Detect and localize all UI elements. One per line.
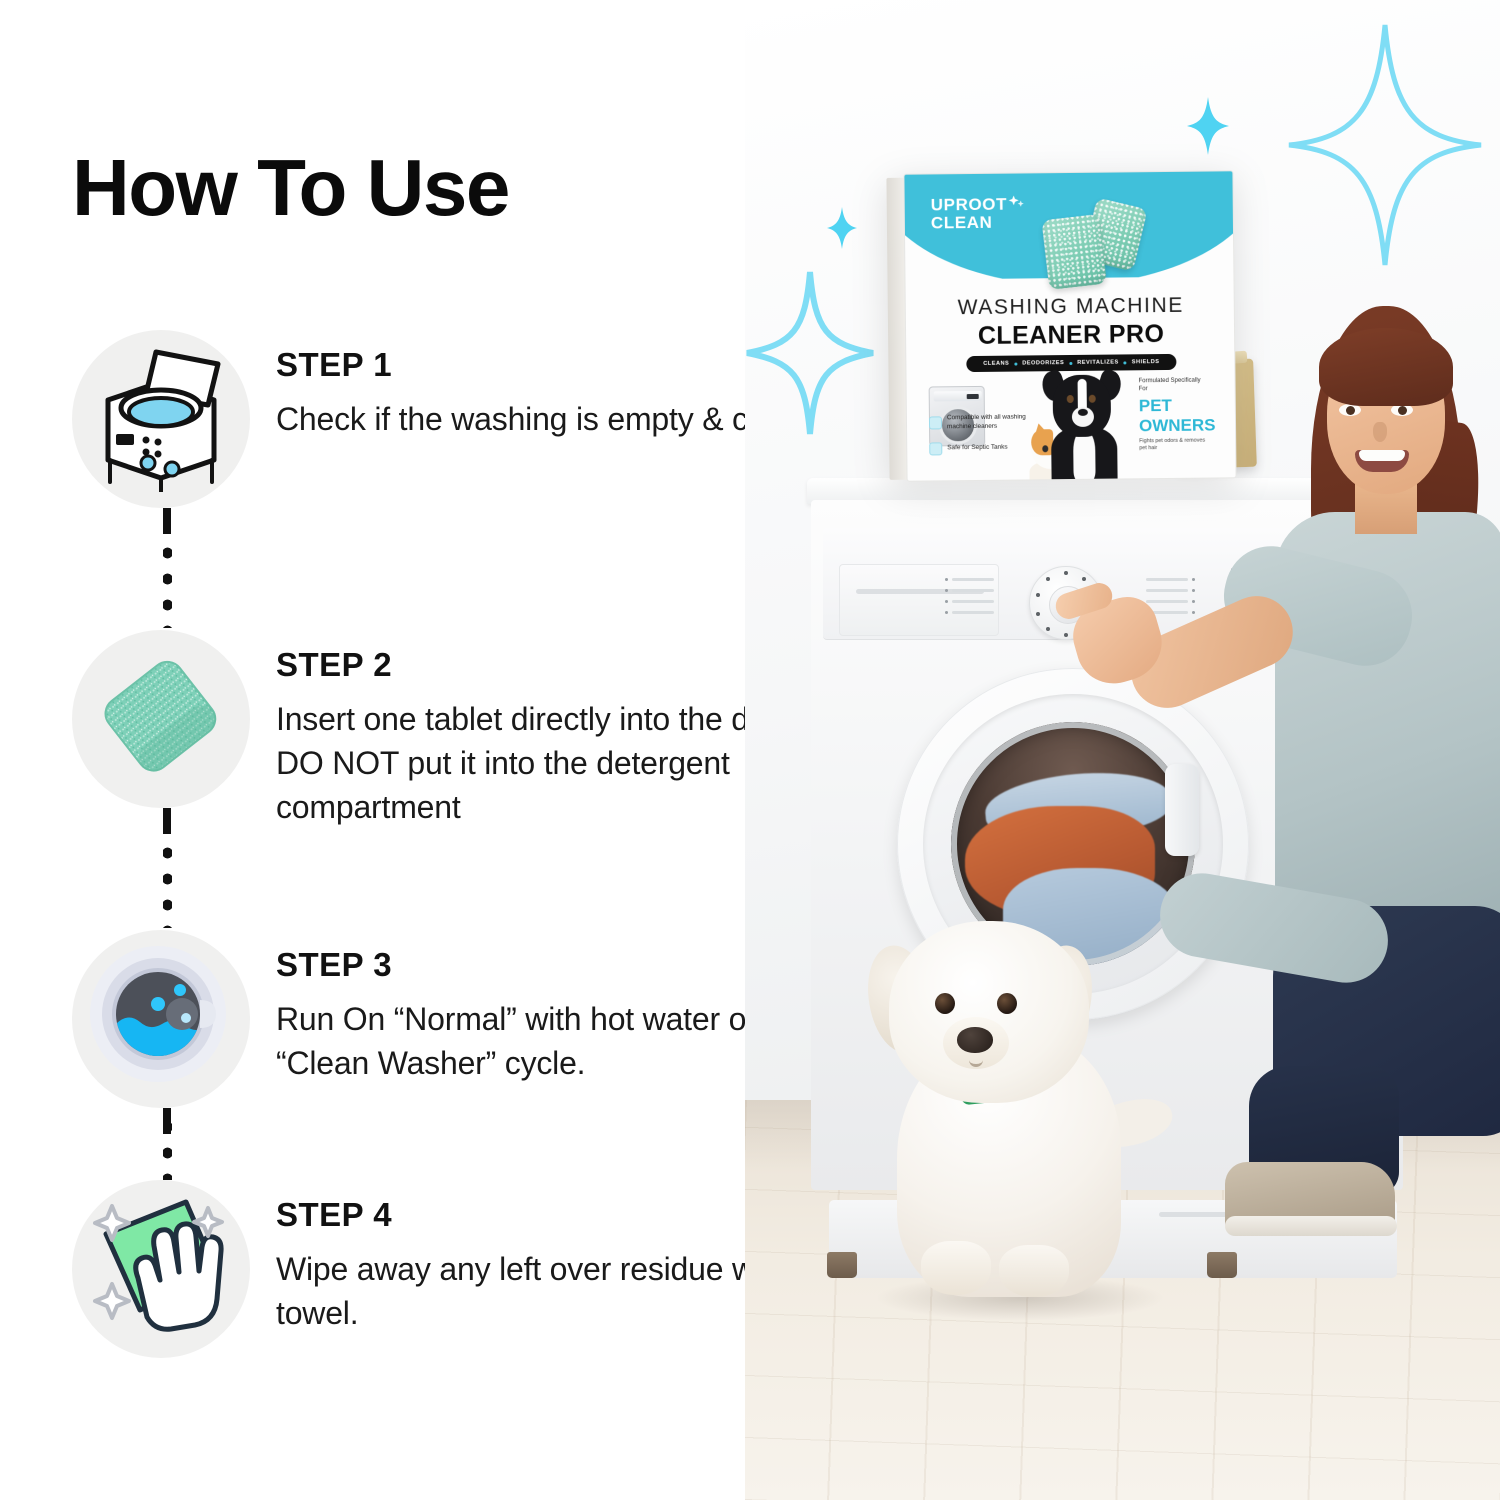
benefit-dot-2 [1069, 361, 1072, 364]
smiling-mouth [1355, 450, 1409, 472]
step-2-icon-badge [72, 630, 250, 808]
step-3-icon-badge [72, 930, 250, 1108]
sneaker-sole [1225, 1216, 1397, 1236]
dog-head [889, 921, 1089, 1103]
box-bullet-1: Compatible with all washing machine clea… [929, 413, 1037, 431]
box-tablet-front [1041, 214, 1107, 290]
pet-callout-big-2: OWNERS [1139, 416, 1209, 434]
sparkle-diamond-tiny-filled [825, 205, 859, 251]
box-title-line-1: WASHING MACHINE [906, 293, 1236, 320]
step-1-label: STEP 1 [276, 346, 816, 384]
nose [1373, 422, 1387, 442]
step-2-description: Insert one tablet directly into the drum… [276, 698, 816, 829]
hand-wiping-cloth-icon [86, 1192, 236, 1347]
person-using-washer [1215, 300, 1500, 1280]
box-bullet-2: Safe for Septic Tanks [929, 442, 1007, 456]
pet-callout-small: Formulated Specifically For [1139, 378, 1209, 394]
top-load-washer-icon [86, 342, 236, 497]
step-connector-1-2 [163, 540, 172, 628]
hair-front [1319, 328, 1453, 406]
step-4-description: Wipe away any left over residue with a t… [276, 1248, 816, 1336]
step-3-label: STEP 3 [276, 946, 816, 984]
pet-callout-big-1: PET [1139, 396, 1209, 414]
step-1-description: Check if the washing is empty & clean [276, 398, 816, 442]
box-front-face: UPROOT CLEAN WASHING MACHINE CLEANER PRO… [903, 170, 1236, 481]
step-4-label: STEP 4 [276, 1196, 816, 1234]
benefit-3: REVITALIZES [1077, 359, 1119, 365]
brand-sparkle-icon [1009, 195, 1025, 214]
benefit-dot-1 [1014, 362, 1017, 365]
teeth [1359, 450, 1405, 461]
washer-foot-left [827, 1252, 857, 1278]
step-2-body: STEP 2 Insert one tablet directly into t… [276, 646, 816, 829]
page-title: How To Use [72, 148, 509, 228]
steps-column: How To Use [0, 0, 820, 1500]
brand-line-1: UPROOT [931, 195, 1008, 215]
compatible-icon [929, 416, 942, 429]
product-lifestyle-photo: 1731 [745, 0, 1500, 1500]
box-pets-photo [1022, 368, 1131, 481]
sparkle-diamond-large-outline [745, 268, 877, 438]
brand-logo: UPROOT CLEAN [931, 196, 1008, 232]
effervescent-tablet-icon [86, 642, 236, 797]
dog-nose [957, 1027, 993, 1053]
benefit-1: CLEANS [983, 361, 1009, 367]
step-1-icon-badge [72, 330, 250, 508]
washer-drum-water-icon [86, 942, 236, 1097]
sparkle-diamond-small-filled [1185, 95, 1231, 157]
step-3-description: Run On “Normal” with hot water or “Clean… [276, 998, 816, 1086]
washer-door-handle[interactable] [1165, 764, 1199, 856]
brand-line-2: CLEAN [931, 213, 993, 233]
sparkle-star-large-outline [1285, 20, 1485, 270]
box-bullet-2-text: Safe for Septic Tanks [947, 444, 1007, 453]
connector-tick-1 [163, 508, 171, 534]
program-list-left [945, 574, 1025, 618]
benefit-4: SHIELDS [1132, 359, 1160, 365]
box-pet-callout: Formulated Specifically For PET OWNERS F… [1139, 378, 1210, 453]
step-3-body: STEP 3 Run On “Normal” with hot water or… [276, 946, 816, 1086]
dog-paw-right [999, 1245, 1069, 1297]
product-box: UPROOT CLEAN WASHING MACHINE CLEANER PRO… [903, 170, 1236, 483]
white-dog [865, 905, 1165, 1325]
connector-tick-2 [163, 808, 171, 834]
benefit-dot-3 [1124, 361, 1127, 364]
step-connector-2-3 [163, 840, 172, 928]
step-4-icon-badge [72, 1180, 250, 1358]
step-4-body: STEP 4 Wipe away any left over residue w… [276, 1196, 816, 1336]
dog-eye-left [935, 993, 955, 1014]
dog-paw-left [921, 1241, 991, 1295]
dog-eye-right [997, 993, 1017, 1014]
box-title-line-2: CLEANER PRO [906, 319, 1236, 351]
how-to-use-infographic: How To Use [0, 0, 1500, 1500]
pet-callout-fine: Fights pet odors & removes pet hair [1139, 437, 1209, 452]
step-2-label: STEP 2 [276, 646, 816, 684]
septic-safe-icon [929, 442, 942, 455]
step-1-body: STEP 1 Check if the washing is empty & c… [276, 346, 816, 442]
benefit-2: DEODORIZES [1022, 360, 1064, 366]
